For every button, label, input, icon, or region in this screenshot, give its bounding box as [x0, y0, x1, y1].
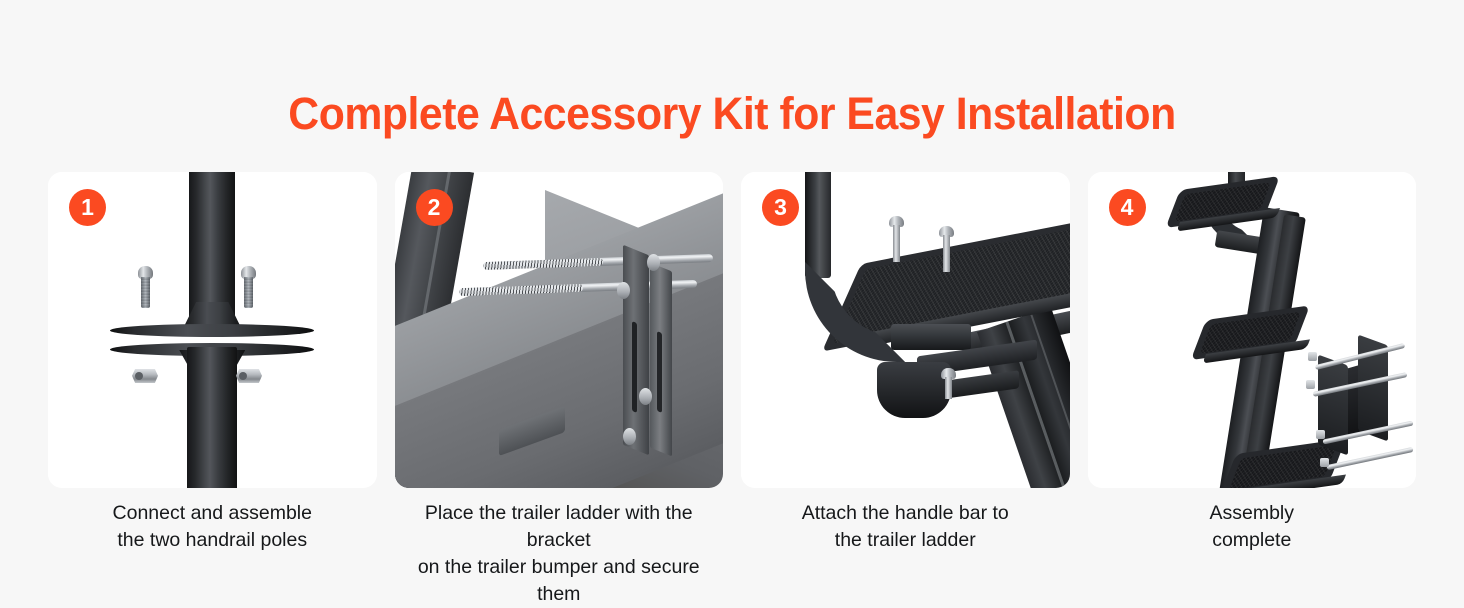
step-badge-2: 2 [416, 189, 453, 226]
step-caption-4-line2: complete [1088, 527, 1417, 554]
step-caption-2-line1: Place the trailer ladder with the bracke… [425, 502, 693, 551]
bracket-pin [617, 282, 630, 299]
step-card-3: 3 [741, 172, 1070, 488]
pole-flange-upper [110, 324, 314, 337]
step-card-row: 1 [48, 172, 1416, 488]
step-caption-2: Place the trailer ladder with the bracke… [395, 500, 724, 570]
bracket-nut [1308, 352, 1317, 361]
step-caption-3: Attach the handle bar to the trailer lad… [741, 500, 1070, 570]
nut-icon [132, 369, 158, 383]
step-caption-3-line1: Attach the handle bar to [802, 502, 1009, 524]
step-badge-1: 1 [69, 189, 106, 226]
step-caption-1: Connect and assemble the two handrail po… [48, 500, 377, 570]
page-title: Complete Accessory Kit for Easy Installa… [37, 88, 1428, 140]
step-caption-3-line2: the trailer ladder [741, 527, 1070, 554]
bracket-nut [1320, 458, 1329, 467]
step-caption-4-line1: Assembly [1209, 502, 1294, 524]
infographic-page: Complete Accessory Kit for Easy Installa… [0, 0, 1464, 600]
bolt-icon [889, 216, 904, 262]
step-caption-1-line2: the two handrail poles [48, 527, 377, 554]
step-card-2: 2 [395, 172, 724, 488]
step-caption-row: Connect and assemble the two handrail po… [48, 500, 1416, 570]
bolt-icon [241, 266, 256, 308]
bracket-nut [1316, 430, 1325, 439]
handle-bar-clamp [877, 362, 951, 418]
step-card-4: 4 [1088, 172, 1417, 488]
handle-bar-horizontal [891, 324, 971, 350]
bolt-icon [939, 226, 954, 272]
bracket-pin [623, 428, 636, 445]
handle-bar-bend [805, 262, 905, 362]
step-card-1: 1 [48, 172, 377, 488]
step-badge-4: 4 [1109, 189, 1146, 226]
ladder-rail-diagonal [977, 307, 1070, 488]
bracket-pin [647, 254, 660, 271]
step-caption-1-line1: Connect and assemble [113, 502, 312, 524]
nut-icon [236, 369, 262, 383]
step-caption-4: Assembly complete [1088, 500, 1417, 570]
bracket-pin [639, 388, 652, 405]
bracket-slot-outer [657, 331, 662, 413]
handrail-pole-lower [187, 347, 237, 488]
bolt-icon [941, 368, 956, 414]
bolt-icon [138, 266, 153, 308]
bracket-slot [632, 321, 637, 413]
step-badge-3: 3 [762, 189, 799, 226]
bracket-nut [1306, 380, 1315, 389]
